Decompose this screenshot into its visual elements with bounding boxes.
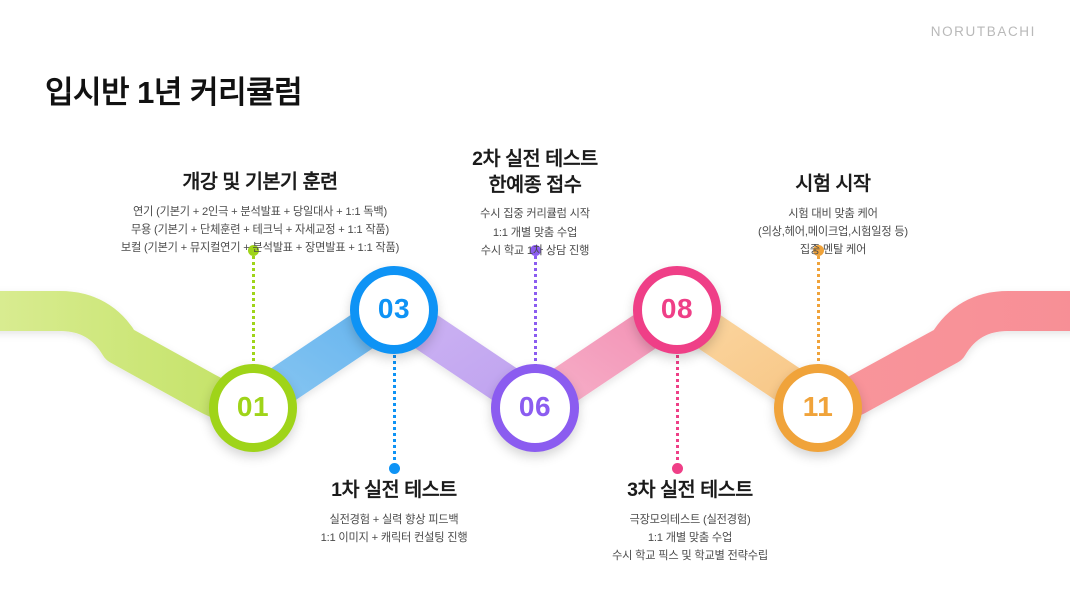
milestone-circle-06[interactable]: 06 (491, 364, 579, 452)
step-label-step-11: 시험 시작시험 대비 맞춤 케어 (의상,헤어,메이크업,시험일정 등) 집중 … (713, 172, 953, 259)
milestone-circle-01[interactable]: 01 (209, 364, 297, 452)
brand-logo: NORUTBACHI (931, 24, 1036, 39)
step-description: 연기 (기본기 + 2인극 + 분석발표 + 당일대사 + 1:1 독백) 무용… (95, 203, 425, 257)
milestone-circle-11[interactable]: 11 (774, 364, 862, 452)
connector-line-c01 (252, 256, 255, 365)
connector-end-dot (672, 463, 683, 474)
connector-line-c06 (534, 256, 537, 365)
step-label-step-01: 개강 및 기본기 훈련연기 (기본기 + 2인극 + 분석발표 + 당일대사 +… (95, 170, 425, 257)
connector-line-c11 (817, 256, 820, 365)
milestone-number: 03 (378, 295, 410, 323)
step-title: 3차 실전 테스트 (570, 478, 810, 504)
step-label-step-06: 2차 실전 테스트 한예종 접수수시 집중 커리큘럼 시작 1:1 개별 맞춤 … (430, 147, 640, 260)
milestone-number: 11 (803, 393, 834, 421)
milestone-circle-08[interactable]: 08 (633, 266, 721, 354)
step-label-step-03: 1차 실전 테스트실전경험 + 실력 향상 피드백 1:1 이미지 + 캐릭터 … (279, 478, 509, 547)
infographic-canvas: NORUTBACHI 입시반 1년 커리큘럼 (0, 0, 1070, 602)
page-title: 입시반 1년 커리큘럼 (45, 67, 302, 112)
milestone-circle-03[interactable]: 03 (350, 266, 438, 354)
step-title: 1차 실전 테스트 (279, 478, 509, 504)
connector-dots (393, 355, 396, 463)
step-description: 수시 집중 커리큘럼 시작 1:1 개별 맞춤 수업 수시 학교 1차 상담 진… (430, 205, 640, 259)
connector-line-c08 (676, 355, 679, 463)
step-title: 2차 실전 테스트 한예종 접수 (430, 147, 640, 198)
connector-end-dot (389, 463, 400, 474)
connector-dots (676, 355, 679, 463)
step-label-step-08: 3차 실전 테스트극장모의테스트 (실전경험) 1:1 개별 맞춤 수업 수시 … (570, 478, 810, 565)
step-title: 시험 시작 (713, 172, 953, 198)
step-title: 개강 및 기본기 훈련 (95, 170, 425, 196)
connector-dots (817, 256, 820, 365)
connector-dots (534, 256, 537, 365)
connector-dots (252, 256, 255, 365)
step-description: 시험 대비 맞춤 케어 (의상,헤어,메이크업,시험일정 등) 집중 멘탈 케어 (713, 205, 953, 259)
connector-line-c03 (393, 355, 396, 463)
milestone-number: 08 (661, 295, 693, 323)
milestone-number: 01 (237, 393, 269, 421)
milestone-number: 06 (519, 393, 551, 421)
step-description: 극장모의테스트 (실전경험) 1:1 개별 맞춤 수업 수시 학교 픽스 및 학… (570, 511, 810, 565)
step-description: 실전경험 + 실력 향상 피드백 1:1 이미지 + 캐릭터 컨설팅 진행 (279, 511, 509, 547)
